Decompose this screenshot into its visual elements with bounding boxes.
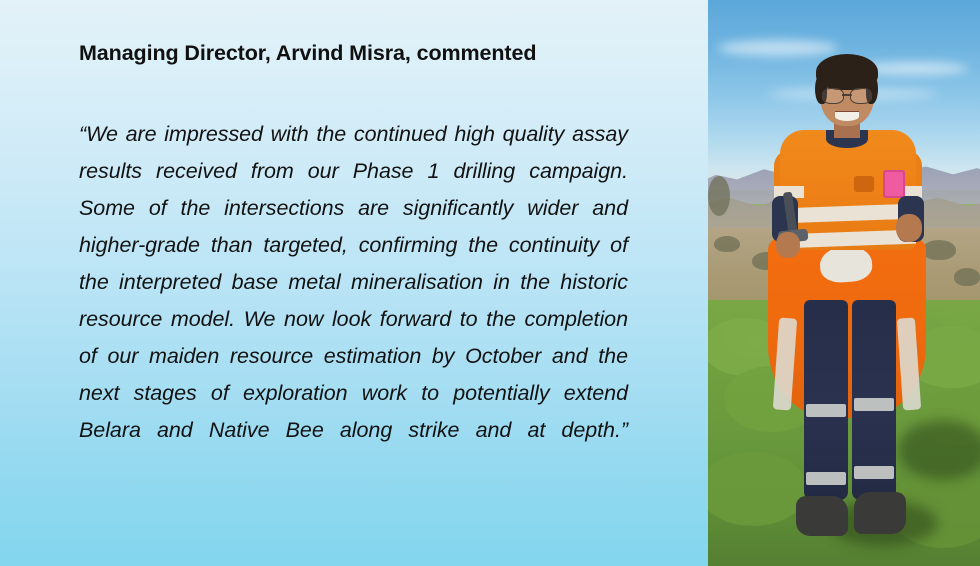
hand-right [896, 214, 922, 242]
quote-heading: Managing Director, Arvind Misra, comment… [79, 41, 629, 66]
quote-text-column: Managing Director, Arvind Misra, comment… [79, 0, 629, 566]
pink-sample-tag [883, 170, 905, 198]
glasses-icon [822, 88, 872, 103]
company-logo-badge [854, 176, 874, 192]
quote-body-text: “We are impressed with the continued hig… [79, 116, 628, 486]
hand-left [776, 232, 800, 258]
trouser-leg-left [804, 300, 848, 500]
glasses-lens [850, 88, 872, 104]
managing-director-photo [708, 0, 980, 566]
trouser-reflective-band [806, 472, 846, 485]
person-figure [708, 0, 980, 566]
work-boot-right [854, 492, 906, 534]
trouser-reflective-band [854, 398, 894, 411]
glasses-lens [822, 88, 844, 104]
trouser-reflective-band [806, 404, 846, 417]
work-boot-left [796, 496, 848, 536]
slide-root: Managing Director, Arvind Misra, comment… [0, 0, 980, 566]
trouser-reflective-band [854, 466, 894, 479]
smile [835, 112, 859, 121]
